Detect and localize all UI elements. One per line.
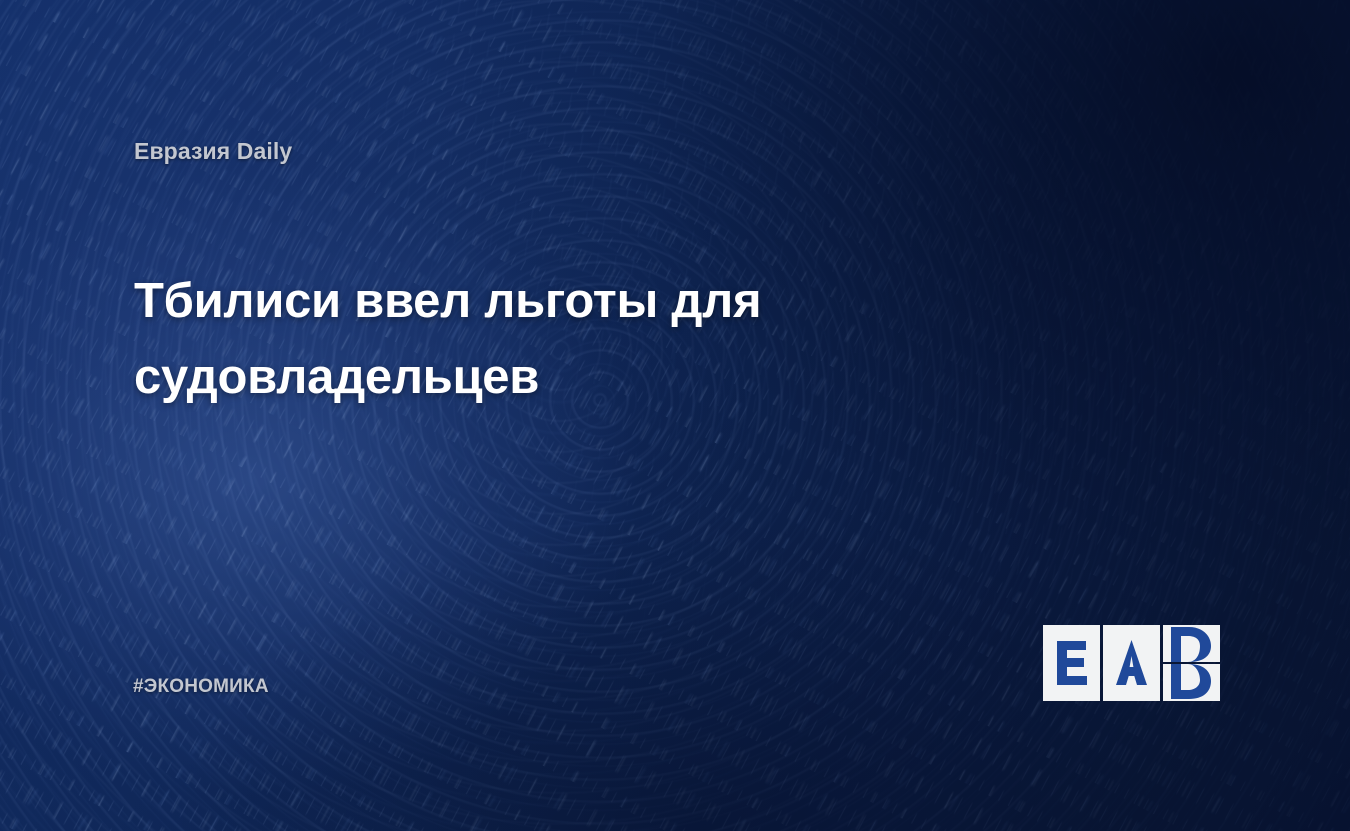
logo-tile-d-split — [1163, 625, 1220, 701]
brand-label: Евразия Daily — [134, 138, 292, 165]
logo-half-d-bottom — [1163, 664, 1220, 701]
page-title: Тбилиси ввел льготы для судовладельцев — [134, 263, 894, 415]
category-tag: #ЭКОНОМИКА — [133, 676, 269, 698]
logo-half-d-top — [1163, 625, 1220, 662]
card-content: Евразия Daily Тбилиси ввел льготы для су… — [0, 0, 1350, 831]
logo-tile-e — [1043, 625, 1100, 701]
logo-tile-a — [1103, 625, 1160, 701]
article-cover-card: Евразия Daily Тбилиси ввел льготы для су… — [0, 0, 1350, 831]
eadaily-logo — [1043, 625, 1221, 701]
